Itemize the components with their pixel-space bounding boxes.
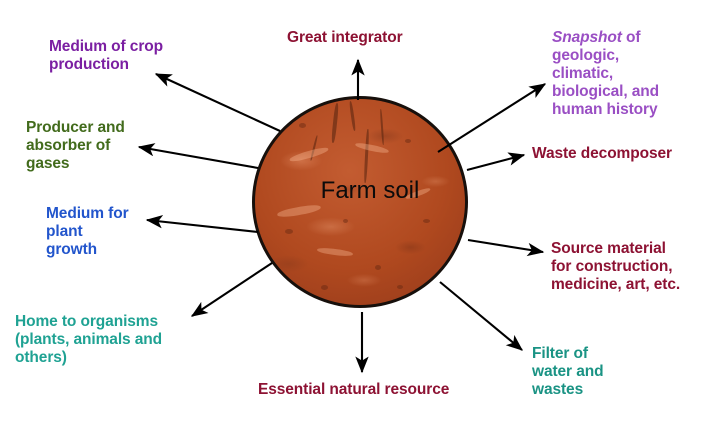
soil-functions-diagram: Farm soil Medium of crop production Grea…	[0, 0, 722, 423]
arrow-to-medium-for-plant-growth	[147, 220, 258, 232]
arrow-to-producer-and-absorber-of-gases	[139, 147, 258, 168]
arrow-to-waste-decomposer	[467, 155, 524, 170]
label-filter-of-water-and-wastes: Filter of water and wastes	[532, 345, 603, 399]
label-home-to-organisms: Home to organisms (plants, animals and o…	[15, 313, 162, 367]
label-waste-decomposer: Waste decomposer	[532, 145, 672, 163]
arrow-to-snapshot-of-history	[438, 84, 545, 152]
arrow-to-medium-of-crop-production	[156, 74, 280, 131]
arrow-to-filter-of-water-and-wastes	[440, 282, 522, 350]
label-snapshot-of-history: Snapshot of geologic, climatic, biologic…	[552, 29, 659, 119]
label-snapshot-emphasis: Snapshot	[552, 29, 622, 46]
label-great-integrator: Great integrator	[287, 29, 403, 47]
label-essential-natural-resource: Essential natural resource	[258, 381, 449, 399]
arrow-to-home-to-organisms	[192, 263, 272, 316]
label-producer-and-absorber-of-gases: Producer and absorber of gases	[26, 119, 125, 173]
label-source-material-for-construction: Source material for construction, medici…	[551, 240, 680, 294]
label-medium-for-plant-growth: Medium for plant growth	[46, 205, 129, 259]
label-medium-of-crop-production: Medium of crop production	[49, 38, 163, 74]
arrow-to-source-material-for-construction	[468, 240, 543, 252]
